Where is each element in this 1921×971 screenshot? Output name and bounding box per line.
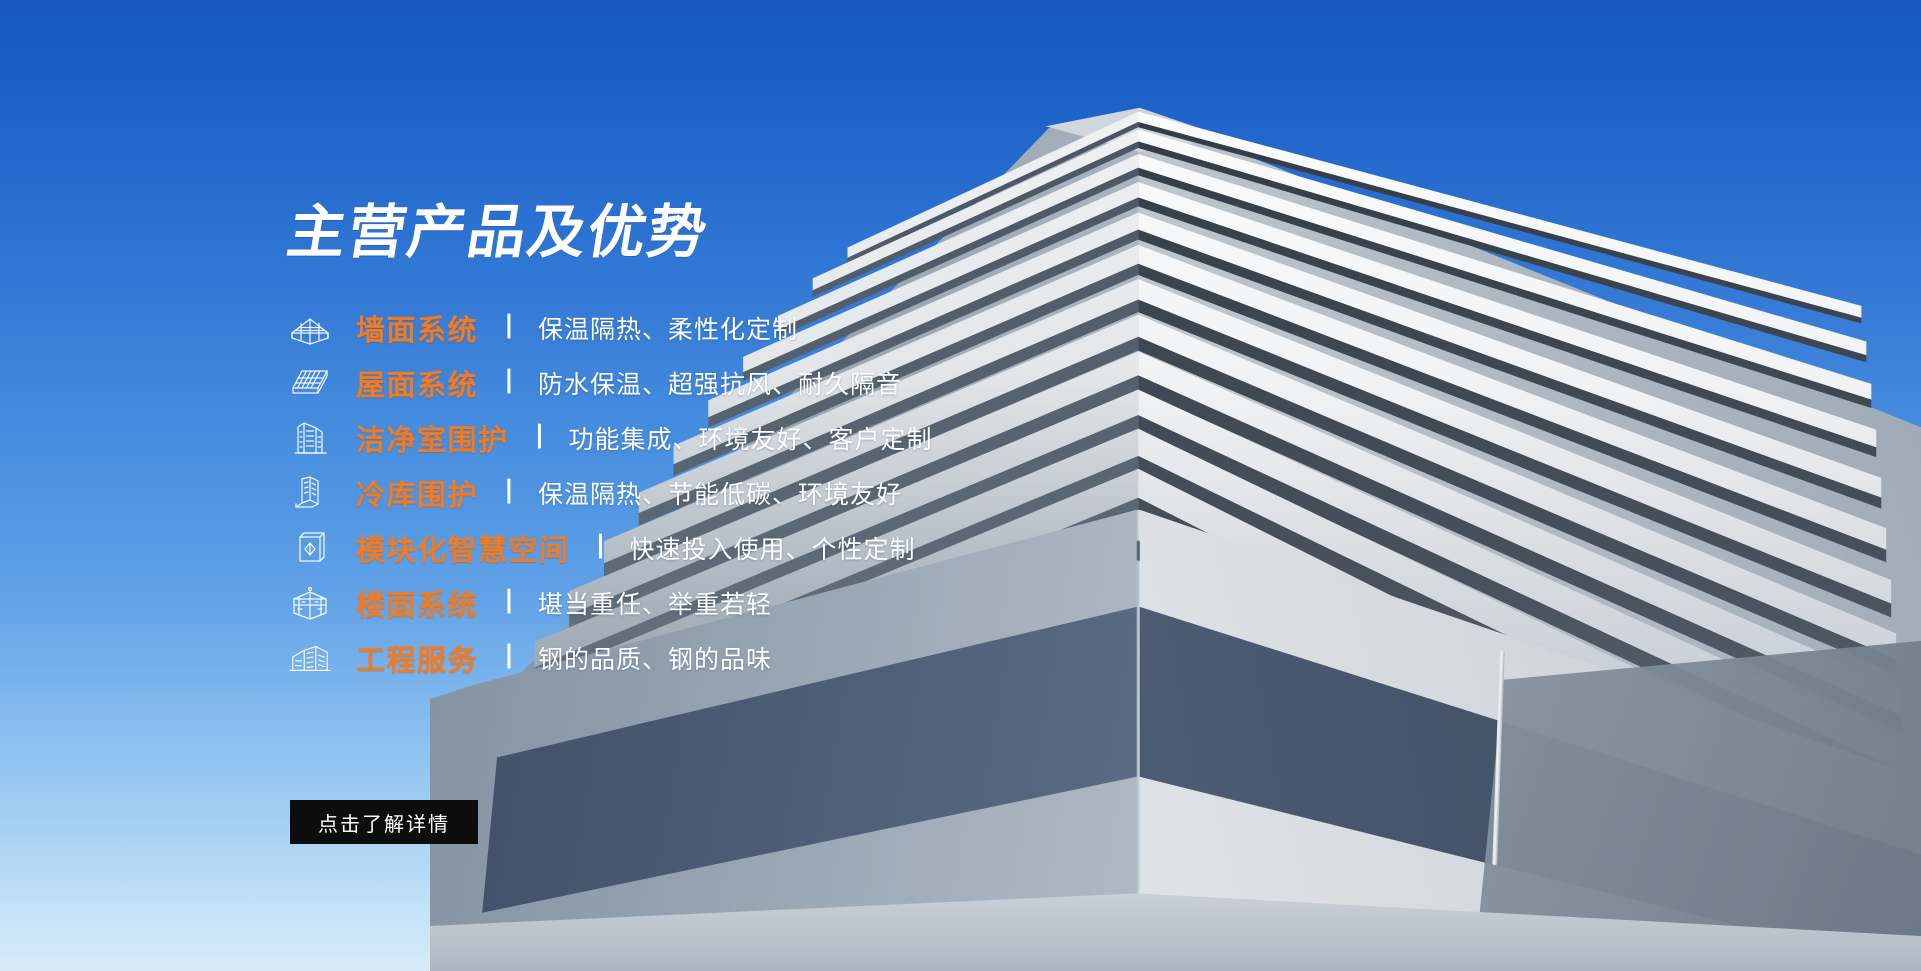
product-divider: 丨	[496, 314, 522, 340]
product-row[interactable]: 模块化智慧空间丨快速投入使用、个性定制	[288, 520, 1248, 575]
product-row[interactable]: 墙面系统丨保温隔热、柔性化定制	[288, 300, 1248, 355]
product-name: 冷库围护	[356, 472, 478, 514]
product-name: 墙面系统	[356, 307, 478, 349]
product-name: 楼面系统	[356, 582, 478, 624]
roof-panel-wireframe-icon	[288, 363, 332, 403]
product-description: 防水保温、超强抗风、耐久隔音	[538, 365, 902, 401]
page-title: 主营产品及优势	[283, 203, 712, 261]
product-list: 墙面系统丨保温隔热、柔性化定制 屋面系统丨防水保温、超强抗风、耐久隔音 洁净室围…	[288, 300, 1248, 685]
product-description: 保温隔热、柔性化定制	[538, 310, 798, 346]
product-name: 洁净室围护	[356, 417, 509, 459]
product-row[interactable]: 楼面系统丨堪当重任、举重若轻	[288, 575, 1248, 630]
product-description: 保温隔热、节能低碳、环境友好	[538, 475, 902, 511]
product-divider: 丨	[588, 534, 614, 560]
product-description: 快速投入使用、个性定制	[630, 530, 916, 566]
product-row[interactable]: 洁净室围护丨功能集成、环境友好、客户定制	[288, 410, 1248, 465]
product-row[interactable]: 屋面系统丨防水保温、超强抗风、耐久隔音	[288, 355, 1248, 410]
product-description: 钢的品质、钢的品味	[538, 640, 772, 676]
product-row[interactable]: 冷库围护丨保温隔热、节能低碳、环境友好	[288, 465, 1248, 520]
cold-storage-wireframe-icon	[288, 473, 332, 513]
product-divider: 丨	[527, 424, 553, 450]
modular-box-wireframe-icon	[288, 528, 332, 568]
product-divider: 丨	[496, 369, 522, 395]
engineering-service-wireframe-icon	[288, 638, 332, 678]
learn-more-button[interactable]: 点击了解详情	[290, 800, 478, 844]
product-name: 屋面系统	[356, 362, 478, 404]
product-advantage-banner: 主营产品及优势 墙面系统丨保温隔热、柔性化定制 屋面系统丨防水保温、超强抗风、耐…	[0, 0, 1921, 971]
product-name: 模块化智慧空间	[356, 527, 570, 569]
product-description: 功能集成、环境友好、客户定制	[569, 420, 933, 456]
wall-panel-wireframe-icon	[288, 308, 332, 348]
floor-deck-wireframe-icon	[288, 583, 332, 623]
banner-content: 主营产品及优势 墙面系统丨保温隔热、柔性化定制 屋面系统丨防水保温、超强抗风、耐…	[0, 0, 1921, 971]
product-description: 堪当重任、举重若轻	[538, 585, 772, 621]
product-divider: 丨	[496, 644, 522, 670]
product-divider: 丨	[496, 589, 522, 615]
product-name: 工程服务	[356, 637, 478, 679]
product-row[interactable]: 工程服务丨钢的品质、钢的品味	[288, 630, 1248, 685]
product-divider: 丨	[496, 479, 522, 505]
cleanroom-building-wireframe-icon	[288, 418, 332, 458]
